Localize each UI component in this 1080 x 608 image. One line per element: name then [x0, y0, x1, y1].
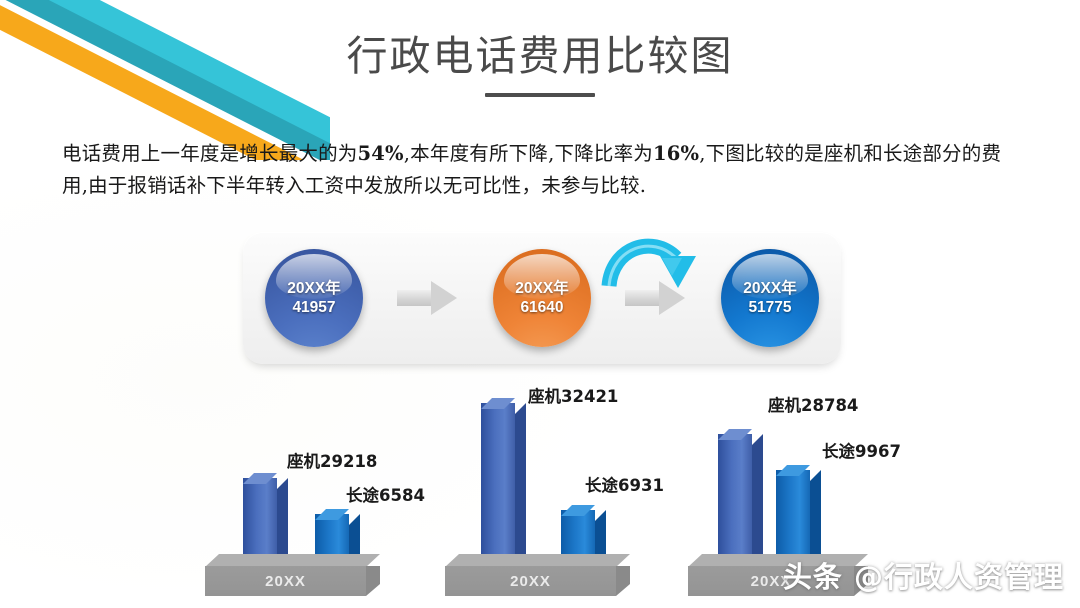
data-label-longdistance-1: 长途6584 [346, 482, 425, 506]
process-step-1-value: 41957 [292, 298, 335, 317]
chart-group-2-platform: 20XX [445, 554, 630, 600]
data-label-landline-3: 座机28784 [768, 392, 858, 416]
chart-group-2-label: 20XX [510, 573, 551, 590]
curved-arrow-icon [600, 228, 712, 314]
process-step-2-period: 20XX年 [515, 279, 568, 298]
data-label-longdistance-3: 长途9967 [822, 438, 901, 462]
body-stat-2: 16% [653, 142, 699, 165]
process-step-2-value: 61640 [520, 298, 563, 317]
process-flow: 20XX年 41957 20XX年 61640 20XX年 51775 [243, 232, 841, 364]
process-step-1-period: 20XX年 [287, 279, 340, 298]
chart-group-1: 20XX [205, 554, 380, 600]
process-step-3-value: 51775 [748, 298, 791, 317]
chart-group-1-platform: 20XX [205, 554, 380, 600]
title-underline [485, 93, 595, 97]
process-step-1[interactable]: 20XX年 41957 [265, 249, 363, 347]
title-block: 行政电话费用比较图 [0, 34, 1080, 97]
body-text-part-1: 电话费用上一年度是增长最大的为 [62, 142, 358, 165]
data-label-longdistance-2: 长途6931 [585, 472, 664, 496]
watermark-text: 头条 @行政人资管理 [783, 554, 1064, 596]
page-title: 行政电话费用比较图 [0, 34, 1080, 79]
process-step-3[interactable]: 20XX年 51775 [721, 249, 819, 347]
chart-group-1-label: 20XX [265, 573, 306, 590]
bar-landline-3[interactable] [718, 434, 752, 566]
process-step-2[interactable]: 20XX年 61640 [493, 249, 591, 347]
body-text-part-2: ,本年度有所下降,下降比率为 [404, 142, 653, 165]
bar-landline-2[interactable] [481, 403, 515, 566]
chart-group-2: 20XX [445, 554, 630, 600]
slide-canvas: 行政电话费用比较图 电话费用上一年度是增长最大的为54%,本年度有所下降,下降比… [0, 0, 1080, 608]
body-paragraph: 电话费用上一年度是增长最大的为54%,本年度有所下降,下降比率为16%,下图比较… [62, 138, 1022, 202]
right-arrow-icon-1 [397, 281, 459, 315]
body-stat-1: 54% [358, 142, 404, 165]
process-step-3-period: 20XX年 [743, 279, 796, 298]
data-label-landline-2: 座机32421 [528, 383, 618, 407]
data-label-landline-1: 座机29218 [287, 448, 377, 472]
bar-landline-1[interactable] [243, 478, 277, 566]
